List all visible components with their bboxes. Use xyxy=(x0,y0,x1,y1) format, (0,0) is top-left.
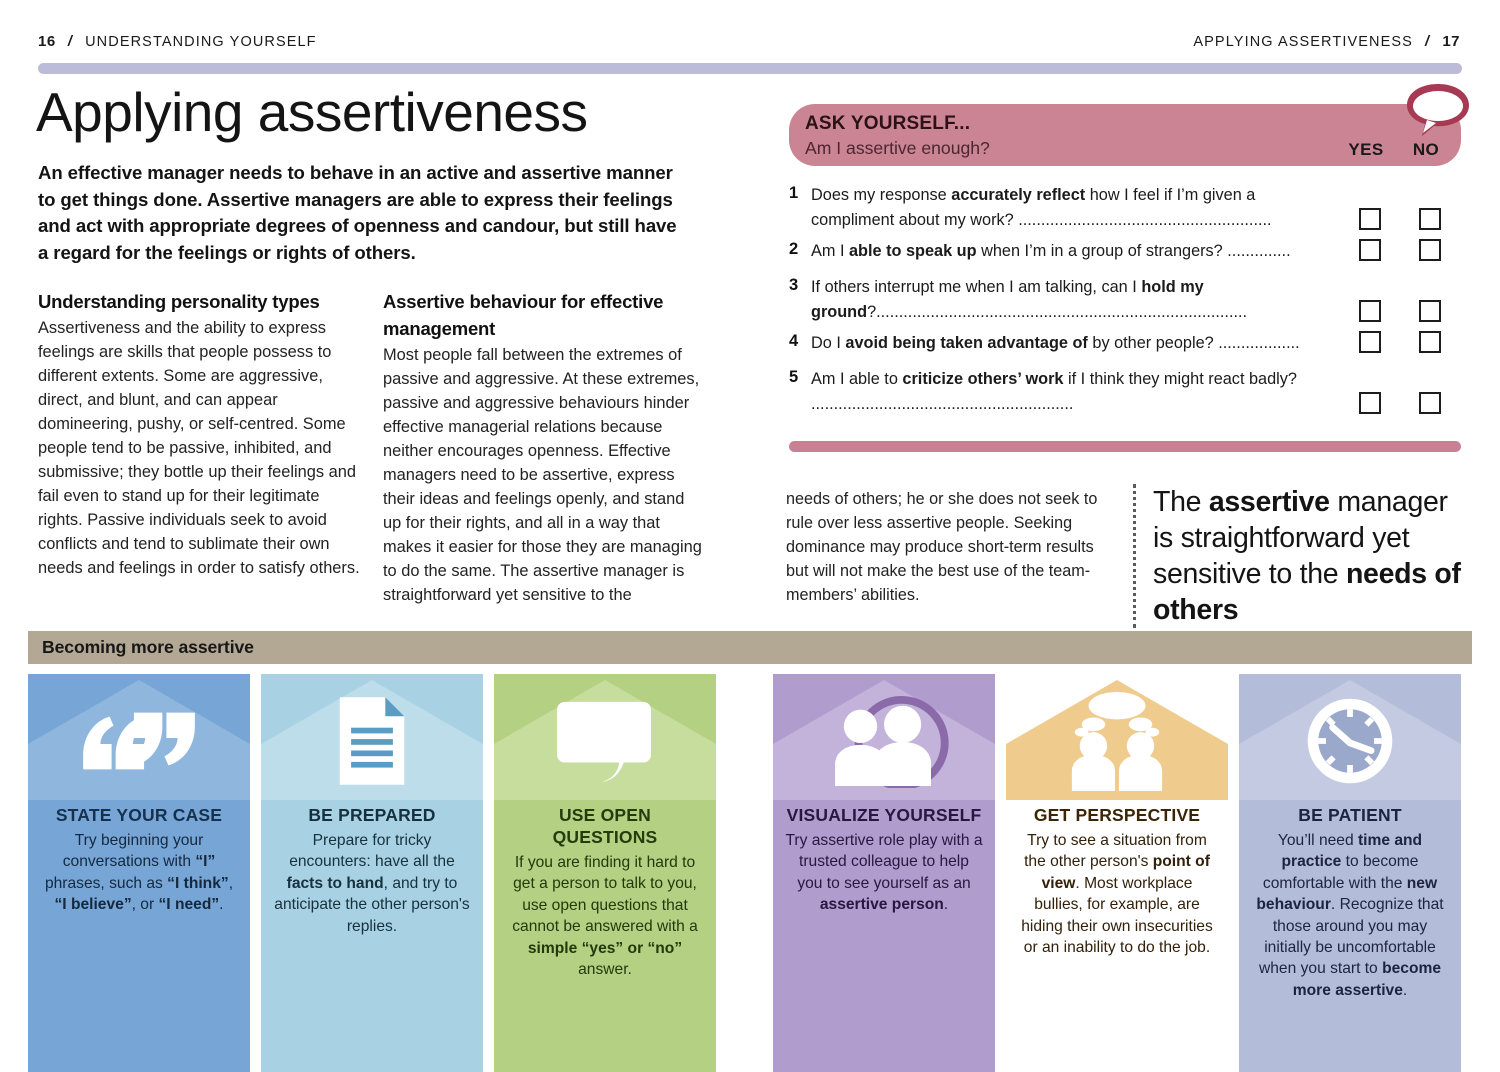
question-pre: If others interrupt me when I am talking… xyxy=(811,278,1141,296)
question-number: 4 xyxy=(789,331,811,351)
card-title: VISUALIZE YOURSELF xyxy=(785,804,983,826)
card-text: If you are finding it hard to get a pers… xyxy=(506,852,704,980)
card-text-run: , or xyxy=(132,896,159,913)
question-post: by other people? xyxy=(1088,334,1214,352)
card-text-run: answer. xyxy=(578,961,632,978)
card-text-run: If you are finding it hard to get a pers… xyxy=(512,854,698,935)
column-2-heading: Assertive behaviour for effective manage… xyxy=(383,288,705,342)
question-pre: Am I able to xyxy=(811,370,902,388)
slash-left: / xyxy=(68,34,73,50)
assertiveness-card[interactable]: BE PATIENTYou’ll need time and practice … xyxy=(1239,674,1461,1072)
card-text-run: Try assertive role play with a trusted c… xyxy=(785,832,982,892)
question-pre: Am I xyxy=(811,242,849,260)
card-title: GET PERSPECTIVE xyxy=(1018,804,1216,826)
question-leader-dots: .............. xyxy=(1223,242,1291,260)
card-title: BE PATIENT xyxy=(1251,804,1449,826)
card-body: USE OPEN QUESTIONSIf you are finding it … xyxy=(494,804,716,980)
card-body: STATE YOUR CASETry beginning your conver… xyxy=(28,804,250,916)
question-bold: accurately reflect xyxy=(951,186,1085,204)
card-text-emphasis: simple “yes” or “no” xyxy=(528,940,682,957)
card-title: USE OPEN QUESTIONS xyxy=(506,804,704,848)
folio-left: 16 xyxy=(38,33,56,50)
checkbox-yes[interactable] xyxy=(1359,300,1381,322)
header-rule xyxy=(38,63,1462,74)
question-row: 5 Am I able to criticize others’ work if… xyxy=(789,367,1461,417)
question-text: Am I able to criticize others’ work if I… xyxy=(811,367,1343,417)
card-title: BE PREPARED xyxy=(273,804,471,826)
card-text-run: Try beginning your conversations with xyxy=(63,832,204,870)
speech-bubble-icon xyxy=(494,682,716,800)
folio-right: 17 xyxy=(1442,33,1460,50)
speech-bubble-icon xyxy=(1405,82,1471,140)
question-number: 5 xyxy=(789,367,811,387)
question-post: ? xyxy=(867,303,876,321)
card-text-emphasis: “I need” xyxy=(159,896,220,913)
question-number: 3 xyxy=(789,275,811,295)
card-body: VISUALIZE YOURSELFTry assertive role pla… xyxy=(773,804,995,916)
question-bold: avoid being taken advantage of xyxy=(845,334,1087,352)
question-text: If others interrupt me when I am talking… xyxy=(811,275,1343,325)
question-bold: able to speak up xyxy=(849,242,977,260)
question-row: 1 Does my response accurately reflect ho… xyxy=(789,183,1461,233)
pull-quote: The assertive manager is straightforward… xyxy=(1153,484,1461,628)
card-body: BE PREPAREDPrepare for tricky encounters… xyxy=(261,804,483,937)
card-body: GET PERSPECTIVETry to see a situation fr… xyxy=(1006,804,1228,958)
book-spread-page: 16 / UNDERSTANDING YOURSELF APPLYING ASS… xyxy=(0,0,1500,1072)
card-text-emphasis: assertive person xyxy=(820,896,944,913)
column-1-body: Assertiveness and the ability to express… xyxy=(38,316,360,580)
ask-yourself-panel: ASK YOURSELF... Am I assertive enough? Y… xyxy=(789,104,1461,423)
checkbox-no[interactable] xyxy=(1419,239,1441,261)
card-text-emphasis: “I” xyxy=(195,853,215,870)
slash-right: / xyxy=(1425,34,1430,50)
pull-quote-bold1: assertive xyxy=(1209,486,1330,518)
running-head-label-right: APPLYING ASSERTIVENESS xyxy=(1193,34,1413,50)
ask-yourself-title: ASK YOURSELF... xyxy=(805,113,1443,135)
card-body: BE PATIENTYou’ll need time and practice … xyxy=(1239,804,1461,1001)
running-head-right: APPLYING ASSERTIVENESS / 17 xyxy=(1193,33,1460,53)
document-icon xyxy=(261,682,483,800)
questions-list: 1 Does my response accurately reflect ho… xyxy=(789,183,1461,417)
pull-quote-part1: The xyxy=(1153,486,1209,518)
column-2-body: Most people fall between the extremes of… xyxy=(383,343,705,607)
quotation-marks-icon xyxy=(28,682,250,800)
question-post: when I’m in a group of strangers? xyxy=(977,242,1223,260)
cards-row: STATE YOUR CASETry beginning your conver… xyxy=(28,674,1472,1072)
card-text: Try assertive role play with a trusted c… xyxy=(785,830,983,916)
question-number: 2 xyxy=(789,239,811,259)
checkbox-yes[interactable] xyxy=(1359,331,1381,353)
card-text-run: You’ll need xyxy=(1278,832,1358,849)
question-leader-dots: ........................................… xyxy=(1014,211,1272,229)
card-text-emphasis: facts to hand xyxy=(287,875,384,892)
question-leader-dots: ........................................… xyxy=(811,395,1073,413)
standfirst-paragraph: An effective manager needs to behave in … xyxy=(38,160,678,266)
answer-checkboxes xyxy=(1343,367,1461,414)
yes-header: YES xyxy=(1347,140,1385,160)
question-post: if I think they might react badly? xyxy=(1063,370,1296,388)
card-text-run: . xyxy=(1403,982,1407,999)
answer-checkboxes xyxy=(1343,275,1461,322)
question-row: 4 Do I avoid being taken advantage of by… xyxy=(789,331,1461,361)
question-pre: Does my response xyxy=(811,186,951,204)
card-text: Try to see a situation from the other pe… xyxy=(1018,830,1216,958)
question-number: 1 xyxy=(789,183,811,203)
card-text: Prepare for tricky encounters: have all … xyxy=(273,830,471,937)
card-text-emphasis: “I think” xyxy=(167,875,229,892)
assertiveness-card[interactable]: BE PREPAREDPrepare for tricky encounters… xyxy=(261,674,483,1072)
card-text-run: Prepare for tricky encounters: have all … xyxy=(289,832,455,870)
question-leader-dots: .................. xyxy=(1214,334,1300,352)
checkbox-no[interactable] xyxy=(1419,208,1441,230)
question-text: Does my response accurately reflect how … xyxy=(811,183,1343,233)
checkbox-yes[interactable] xyxy=(1359,392,1381,414)
page-title: Applying assertiveness xyxy=(36,80,588,144)
running-head-label-left: UNDERSTANDING YOURSELF xyxy=(85,34,317,50)
ask-yourself-header: ASK YOURSELF... Am I assertive enough? Y… xyxy=(789,104,1461,166)
card-text-run: . xyxy=(219,896,223,913)
two-people-thought-icon xyxy=(1006,682,1228,800)
panel-bottom-rule xyxy=(789,441,1461,452)
checkbox-yes[interactable] xyxy=(1359,208,1381,230)
assertiveness-card[interactable]: VISUALIZE YOURSELFTry assertive role pla… xyxy=(773,674,995,1072)
becoming-more-assertive-section: Becoming more assertive STATE YOUR CASET… xyxy=(28,631,1472,1072)
card-text-run: . xyxy=(944,896,948,913)
checkbox-yes[interactable] xyxy=(1359,239,1381,261)
assertiveness-card[interactable]: GET PERSPECTIVETry to see a situation fr… xyxy=(1006,674,1228,1072)
answer-checkboxes xyxy=(1343,331,1461,353)
card-text: Try beginning your conversations with “I… xyxy=(40,830,238,916)
section-bar-title: Becoming more assertive xyxy=(42,637,254,658)
card-text-run: phrases, such as xyxy=(45,875,167,892)
checkbox-no[interactable] xyxy=(1419,300,1441,322)
body-column-1: Understanding personality types Assertiv… xyxy=(38,288,360,580)
clock-icon xyxy=(1239,682,1461,800)
checkbox-no[interactable] xyxy=(1419,392,1441,414)
card-text-emphasis: “I believe” xyxy=(54,896,131,913)
question-row: 2 Am I able to speak up when I’m in a gr… xyxy=(789,239,1461,269)
question-bold: criticize others’ work xyxy=(902,370,1063,388)
question-pre: Do I xyxy=(811,334,845,352)
yes-no-headers: YES NO xyxy=(1347,140,1445,160)
pull-quote-container: The assertive manager is straightforward… xyxy=(1133,484,1461,628)
question-text: Am I able to speak up when I’m in a grou… xyxy=(811,239,1343,264)
no-header: NO xyxy=(1407,140,1445,160)
card-title: STATE YOUR CASE xyxy=(40,804,238,826)
checkbox-no[interactable] xyxy=(1419,331,1441,353)
answer-checkboxes xyxy=(1343,239,1461,261)
question-leader-dots: ........................................… xyxy=(876,303,1247,321)
question-text: Do I avoid being taken advantage of by o… xyxy=(811,331,1343,356)
section-bar: Becoming more assertive xyxy=(28,631,1472,664)
answer-checkboxes xyxy=(1343,183,1461,230)
card-text-run: , xyxy=(229,875,233,892)
question-row: 3 If others interrupt me when I am talki… xyxy=(789,275,1461,325)
running-head-left: 16 / UNDERSTANDING YOURSELF xyxy=(38,33,317,53)
continuation-paragraph: needs of others; he or she does not seek… xyxy=(786,487,1116,607)
card-text: You’ll need time and practice to become … xyxy=(1251,830,1449,1001)
column-1-heading: Understanding personality types xyxy=(38,288,360,315)
assertiveness-card[interactable]: USE OPEN QUESTIONSIf you are finding it … xyxy=(494,674,716,1072)
body-column-2: Assertive behaviour for effective manage… xyxy=(383,288,705,607)
two-people-circle-icon xyxy=(773,682,995,800)
assertiveness-card[interactable]: STATE YOUR CASETry beginning your conver… xyxy=(28,674,250,1072)
